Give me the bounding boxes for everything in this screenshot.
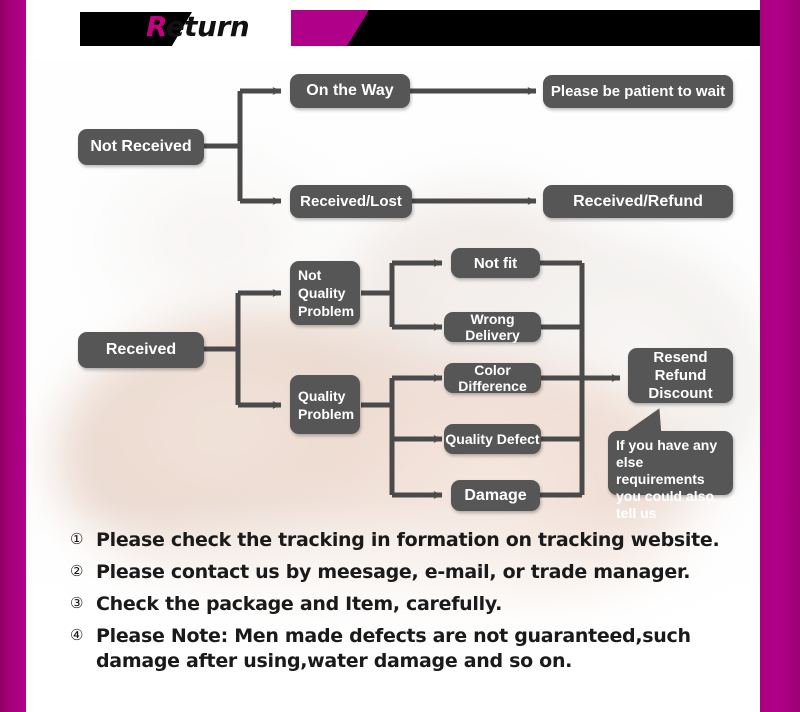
node-received-lost: Received/Lost [290, 185, 412, 218]
note-item: ① Please check the tracking in formation… [70, 528, 750, 553]
node-color-difference-label: Color Difference [444, 362, 541, 394]
node-quality-problem: Quality Problem [290, 375, 360, 434]
node-please-be-patient-label: Please be patient to wait [543, 83, 733, 100]
node-damage-label: Damage [451, 487, 540, 505]
node-on-the-way-label: On the Way [290, 82, 410, 100]
node-received-label: Received [78, 341, 204, 359]
node-received: Received [78, 332, 204, 368]
note-text: Check the package and Item, carefully. [96, 592, 502, 617]
return-policy-banner: Return [0, 0, 800, 712]
node-color-difference: Color Difference [444, 363, 541, 393]
node-quality-defect: Quality Defect [444, 424, 541, 454]
node-not-fit-label: Not fit [451, 255, 540, 272]
note-text: Please Note: Men made defects are not gu… [96, 624, 750, 674]
note-item: ③ Check the package and Item, carefully. [70, 592, 750, 617]
node-quality-defect-label: Quality Defect [444, 431, 541, 447]
note-item: ② Please contact us by meesage, e-mail, … [70, 560, 750, 585]
node-not-fit: Not fit [451, 248, 540, 278]
node-received-refund: Received/Refund [543, 185, 733, 218]
note-text: Please check the tracking in formation o… [96, 528, 719, 553]
node-resend-refund-discount-label: Resend Refund Discount [628, 349, 733, 403]
note-item: ④ Please Note: Men made defects are not … [70, 624, 750, 674]
node-not-quality-problem-label: Not Quality Problem [298, 266, 360, 320]
node-resend-refund-discount: Resend Refund Discount [628, 348, 733, 403]
callout-extra-requirements: If you have any else requirements you co… [608, 431, 733, 495]
node-wrong-delivery: Wrong Delivery [444, 312, 541, 342]
note-text: Please contact us by meesage, e-mail, or… [96, 560, 690, 585]
node-not-received: Not Received [78, 129, 204, 165]
node-received-lost-label: Received/Lost [290, 193, 412, 210]
node-not-received-label: Not Received [78, 138, 204, 156]
notes-list: ① Please check the tracking in formation… [70, 528, 750, 681]
node-received-refund-label: Received/Refund [543, 193, 733, 211]
note-number: ② [70, 560, 96, 584]
note-number: ③ [70, 592, 96, 616]
node-quality-problem-label: Quality Problem [298, 387, 360, 423]
node-damage: Damage [451, 480, 540, 511]
note-number: ④ [70, 624, 96, 648]
note-number: ① [70, 528, 96, 552]
node-not-quality-problem: Not Quality Problem [290, 261, 360, 325]
node-on-the-way: On the Way [290, 74, 410, 108]
node-wrong-delivery-label: Wrong Delivery [444, 311, 541, 343]
node-please-be-patient: Please be patient to wait [543, 75, 733, 108]
